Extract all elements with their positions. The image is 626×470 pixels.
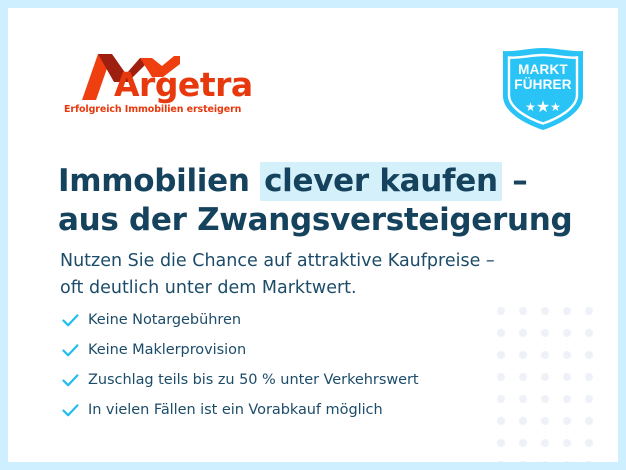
subheadline: Nutzen Sie die Chance auf attraktive Kau… [60,248,580,303]
list-item: Zuschlag teils bis zu 50 % unter Verkehr… [62,365,502,395]
benefits-list: Keine Notargebühren Keine Maklerprovisio… [62,305,502,425]
list-item: In vielen Fällen ist ein Vorabkauf mögli… [62,395,502,425]
dot-decoration [585,329,593,337]
headline-part-3: – [502,163,528,199]
shield-badge-icon [497,46,589,132]
list-item-label: Keine Maklerprovision [88,342,246,358]
logo-wordmark: Argetra [114,68,253,101]
list-item: Keine Maklerprovision [62,335,502,365]
dot-decoration [541,373,549,381]
dot-decoration [563,439,571,447]
check-icon [62,404,88,417]
dot-decoration [541,351,549,359]
dot-decoration [585,373,593,381]
dot-decoration [541,395,549,403]
dot-decoration [585,307,593,315]
list-item-label: In vielen Fällen ist ein Vorabkauf mögli… [88,402,383,418]
dot-decoration [563,417,571,425]
dot-decoration [585,439,593,447]
dot-decoration [585,395,593,403]
subheadline-line-2: oft deutlich unter dem Marktwert. [60,275,580,303]
subheadline-line-1: Nutzen Sie die Chance auf attraktive Kau… [60,251,495,271]
dot-decoration [497,461,505,462]
dot-decoration [541,417,549,425]
dot-decoration [563,461,571,462]
check-icon [62,374,88,387]
dot-decoration [541,461,549,462]
dot-decoration [519,373,527,381]
dot-decoration [519,395,527,403]
dot-decoration [563,307,571,315]
list-item-label: Keine Notargebühren [88,312,241,328]
logo-tagline: Erfolgreich Immobilien ersteigern [64,104,241,115]
dot-decoration [497,439,505,447]
list-item-label: Zuschlag teils bis zu 50 % unter Verkehr… [88,372,419,388]
market-leader-badge: MARKT FÜHRER ★★★ [497,46,589,132]
promo-card: Argetra Erfolgreich Immobilien ersteiger… [8,8,618,462]
dot-decoration [519,329,527,337]
dot-decoration [585,417,593,425]
headline-highlight: clever kaufen [260,162,502,201]
page-title: Immobilien clever kaufen – aus der Zwang… [58,162,578,241]
dot-decoration [519,417,527,425]
dot-decoration [541,307,549,315]
headline-line-2: aus der Zwangsversteigerung [58,201,578,241]
check-icon [62,314,88,327]
dot-decoration [563,329,571,337]
argetra-logo[interactable]: Argetra Erfolgreich Immobilien ersteiger… [62,52,262,118]
check-icon [62,344,88,357]
dot-decoration [519,307,527,315]
dot-decoration [519,461,527,462]
dot-decoration [563,351,571,359]
dot-decoration [519,439,527,447]
dot-decoration [541,329,549,337]
list-item: Keine Notargebühren [62,305,502,335]
dot-decoration [563,373,571,381]
dot-decoration [519,351,527,359]
dot-decoration [585,461,593,462]
headline-part-1: Immobilien [58,163,260,199]
dot-decoration [585,351,593,359]
dot-decoration [541,439,549,447]
dot-grid-decoration [486,300,600,462]
dot-decoration [563,395,571,403]
